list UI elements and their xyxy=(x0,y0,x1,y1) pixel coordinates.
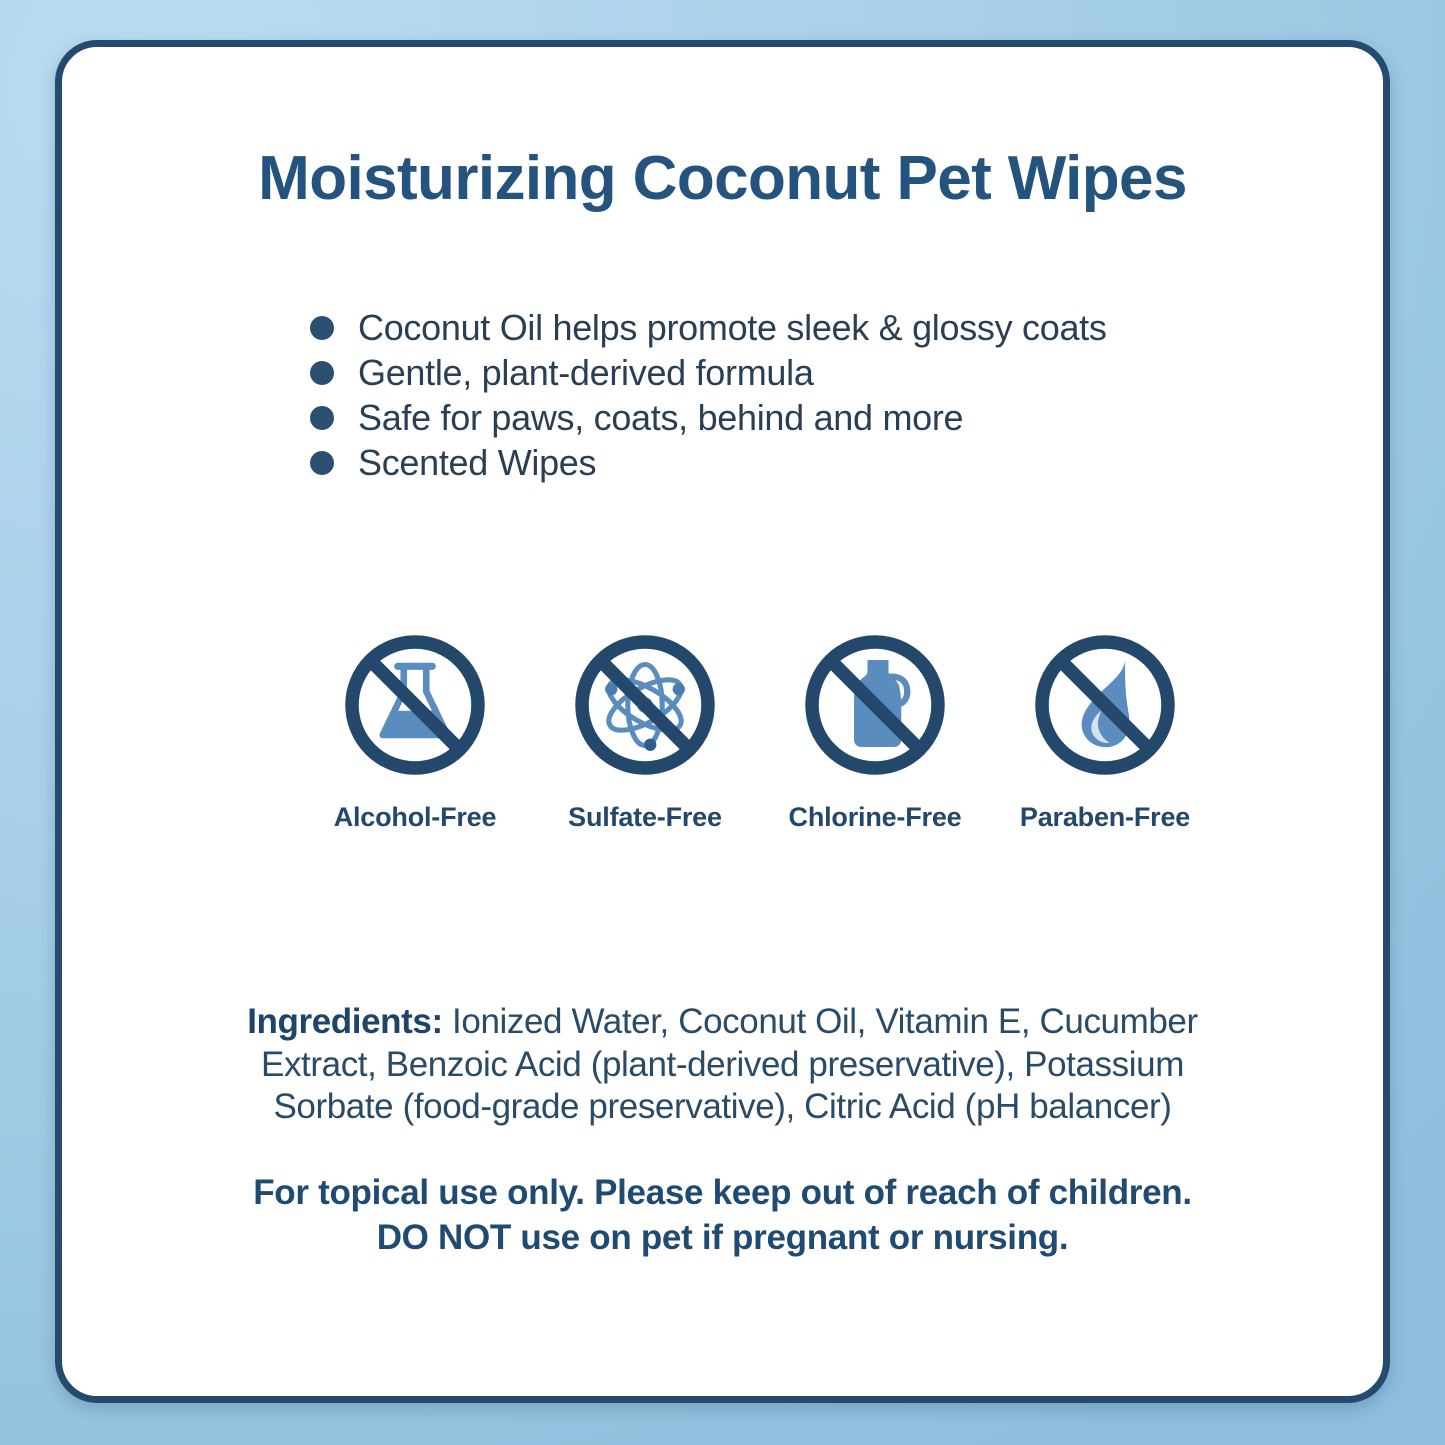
list-item: Gentle, plant-derived formula xyxy=(310,350,1107,395)
free-from-label: Chlorine-Free xyxy=(789,802,962,833)
warning-line-2: DO NOT use on pet if pregnant or nursing… xyxy=(182,1216,1263,1261)
list-item: Coconut Oil helps promote sleek & glossy… xyxy=(310,305,1107,350)
page-title: Moisturizing Coconut Pet Wipes xyxy=(62,143,1383,214)
free-from-item-sulfate: Sulfate-Free xyxy=(530,630,760,833)
bullet-dot-icon xyxy=(310,361,334,385)
free-from-label: Alcohol-Free xyxy=(334,802,497,833)
free-from-item-paraben: Paraben-Free xyxy=(990,630,1220,833)
bullet-dot-icon xyxy=(310,406,334,430)
free-from-item-alcohol: Alcohol-Free xyxy=(300,630,530,833)
no-alcohol-flask-icon xyxy=(340,630,490,780)
benefit-label: Scented Wipes xyxy=(358,445,596,481)
no-chlorine-jug-icon xyxy=(800,630,950,780)
benefit-label: Coconut Oil helps promote sleek & glossy… xyxy=(358,310,1107,346)
ingredients-paragraph: Ingredients: Ionized Water, Coconut Oil,… xyxy=(202,1001,1243,1129)
list-item: Safe for paws, coats, behind and more xyxy=(310,395,1107,440)
bullet-dot-icon xyxy=(310,316,334,340)
benefit-label: Safe for paws, coats, behind and more xyxy=(358,400,963,436)
no-paraben-droplet-icon xyxy=(1030,630,1180,780)
free-from-item-chlorine: Chlorine-Free xyxy=(760,630,990,833)
bullet-dot-icon xyxy=(310,451,334,475)
list-item: Scented Wipes xyxy=(310,440,1107,485)
warning-line-1: For topical use only. Please keep out of… xyxy=(182,1171,1263,1216)
free-from-label: Paraben-Free xyxy=(1020,802,1190,833)
safety-warning: For topical use only. Please keep out of… xyxy=(182,1171,1263,1261)
no-sulfate-atom-icon xyxy=(570,630,720,780)
benefits-list: Coconut Oil helps promote sleek & glossy… xyxy=(310,305,1107,485)
benefit-label: Gentle, plant-derived formula xyxy=(358,355,814,391)
product-info-card: Moisturizing Coconut Pet Wipes Coconut O… xyxy=(55,40,1390,1403)
free-from-label: Sulfate-Free xyxy=(568,802,722,833)
ingredients-heading: Ingredients: xyxy=(247,1002,443,1041)
free-from-badge-row: Alcohol-Free Sulfate-Free xyxy=(300,630,1250,833)
